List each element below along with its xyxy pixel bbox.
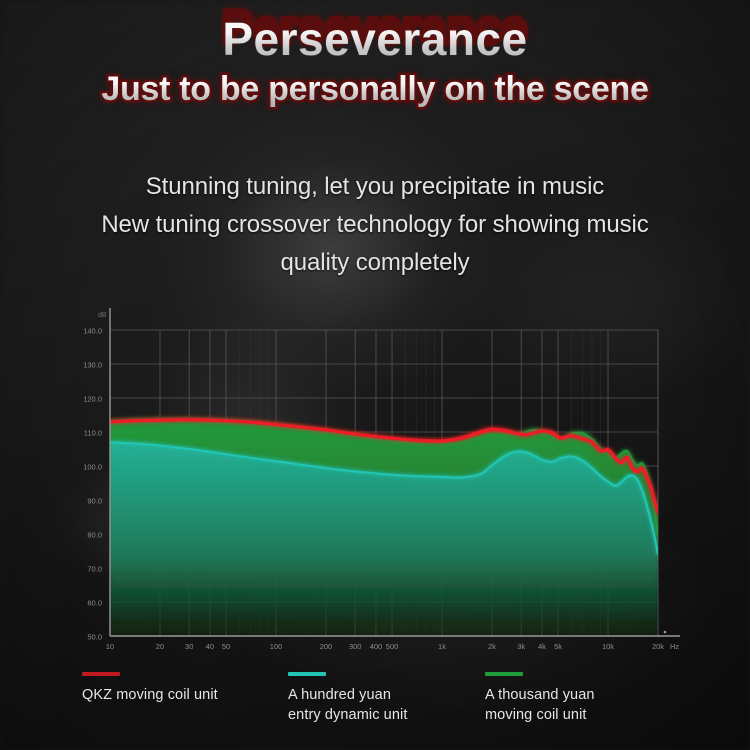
chart-legend: QKZ moving coil unit A hundred yuan entr… [0,672,750,750]
legend-label-qkz-line1: QKZ moving coil unit [82,685,218,705]
chart-svg: 140.0130.0120.0110.0100.090.080.070.060.… [0,0,750,750]
svg-text:120.0: 120.0 [83,395,102,404]
chart-x-tick-labels: 10203040501002003004005001k2k3k4k5k10k20… [106,642,664,651]
svg-text:500: 500 [386,642,399,651]
chart-area-fills [110,420,658,636]
svg-text:90.0: 90.0 [87,497,102,506]
legend-label-hundred-line2: entry dynamic unit [288,705,407,725]
svg-text:2k: 2k [488,642,496,651]
sub-title: Just to be personally on the scene [101,70,648,109]
legend-item-hundred-yuan[interactable]: A hundred yuan entry dynamic unit [288,672,407,725]
svg-text:400: 400 [370,642,383,651]
svg-text:dB: dB [98,312,107,319]
legend-item-thousand-yuan[interactable]: A thousand yuan moving coil unit [485,672,595,725]
frequency-response-chart: 140.0130.0120.0110.0100.090.080.070.060.… [0,0,750,750]
chart-y-tick-labels: 140.0130.0120.0110.0100.090.080.070.060.… [83,327,102,642]
svg-text:110.0: 110.0 [84,429,102,438]
svg-text:50.0: 50.0 [87,633,102,642]
svg-text:100: 100 [270,642,283,651]
sub-title-wrapper: Just to be personally on the scene Just … [101,70,648,109]
legend-label-hundred-line1: A hundred yuan [288,685,407,705]
svg-text:80.0: 80.0 [87,531,102,540]
svg-text:5k: 5k [554,642,562,651]
svg-text:200: 200 [320,642,333,651]
svg-text:300: 300 [349,642,362,651]
svg-text:30: 30 [185,642,193,651]
svg-text:20: 20 [156,642,164,651]
svg-text:140.0: 140.0 [83,327,102,336]
svg-text:1k: 1k [438,642,446,651]
svg-text:Hz: Hz [670,642,679,651]
svg-text:130.0: 130.0 [83,361,102,370]
svg-text:20k: 20k [652,642,664,651]
svg-text:40: 40 [206,642,214,651]
svg-text:100.0: 100.0 [83,463,102,472]
svg-text:60.0: 60.0 [87,599,102,608]
svg-text:4k: 4k [538,642,546,651]
svg-text:70.0: 70.0 [87,565,102,574]
legend-swatch-thousand-yuan-icon [485,672,523,676]
legend-swatch-hundred-yuan-icon [288,672,326,676]
svg-text:50: 50 [222,642,230,651]
svg-text:3k: 3k [517,642,525,651]
legend-label-thousand-line1: A thousand yuan [485,685,595,705]
svg-text:10k: 10k [602,642,614,651]
legend-label-thousand-line2: moving coil unit [485,705,595,725]
svg-text:10: 10 [106,642,114,651]
legend-swatch-qkz-icon [82,672,120,676]
legend-item-qkz[interactable]: QKZ moving coil unit [82,672,218,705]
